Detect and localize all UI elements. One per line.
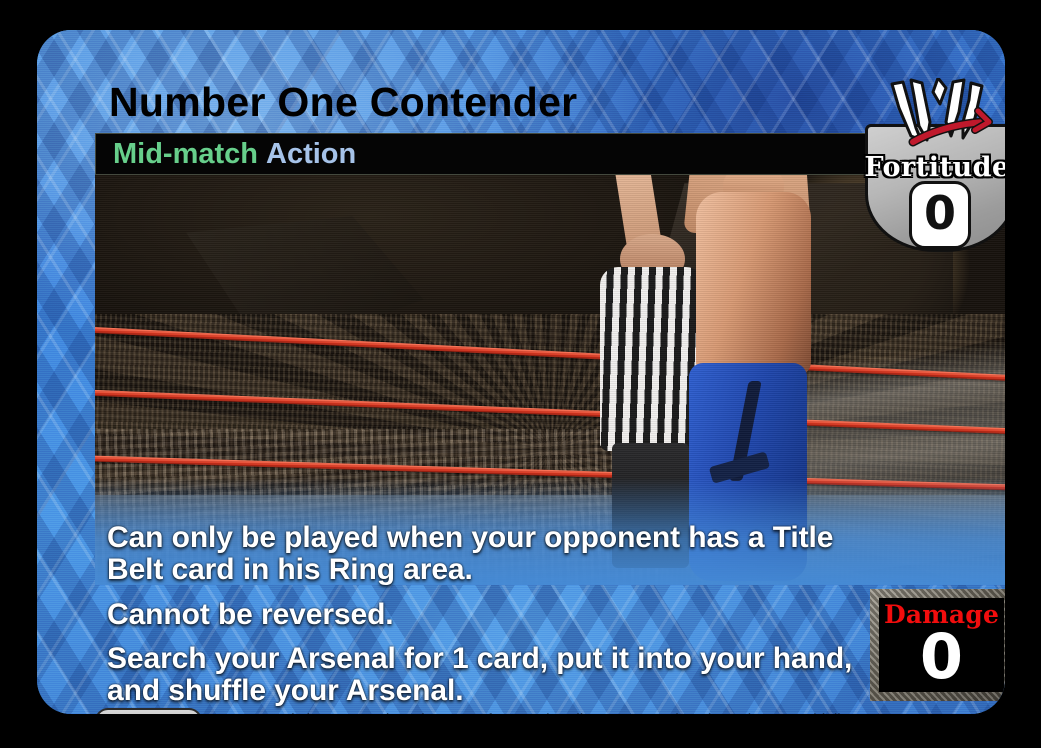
subtitle-kind: Mid-match bbox=[113, 138, 258, 170]
rule-line-2: Cannot be reversed. bbox=[107, 599, 867, 631]
damage-value: 0 bbox=[879, 624, 1004, 690]
card-title: Number One Contender bbox=[109, 76, 869, 128]
fortitude-badge: Fortitude 0 bbox=[857, 78, 1005, 250]
rule-line-3: Search your Arsenal for 1 card, put it i… bbox=[107, 643, 867, 707]
card-number-pill: 87/181v13 bbox=[95, 708, 202, 714]
fortitude-label: Fortitude bbox=[857, 152, 1005, 183]
wwe-logo-icon bbox=[883, 78, 993, 152]
card-subtitle: Mid-matchAction bbox=[113, 133, 356, 175]
rule-line-1: Can only be played when your opponent ha… bbox=[107, 522, 867, 586]
screenshot-stage: Number One Contender Mid-matchAction bbox=[0, 0, 1041, 748]
card-rules-text: Can only be played when your opponent ha… bbox=[107, 522, 867, 707]
subtitle-type: Action bbox=[266, 138, 356, 170]
damage-box-inner: Damage 0 bbox=[879, 598, 1004, 692]
trading-card[interactable]: Number One Contender Mid-matchAction bbox=[37, 30, 1005, 714]
card-number: 87 bbox=[114, 713, 133, 715]
damage-box: Damage 0 bbox=[870, 589, 1005, 701]
card-credit-text: Fantasy cards by RD Proxies RiotM. Not f… bbox=[205, 710, 866, 714]
fortitude-value: 0 bbox=[909, 181, 971, 249]
